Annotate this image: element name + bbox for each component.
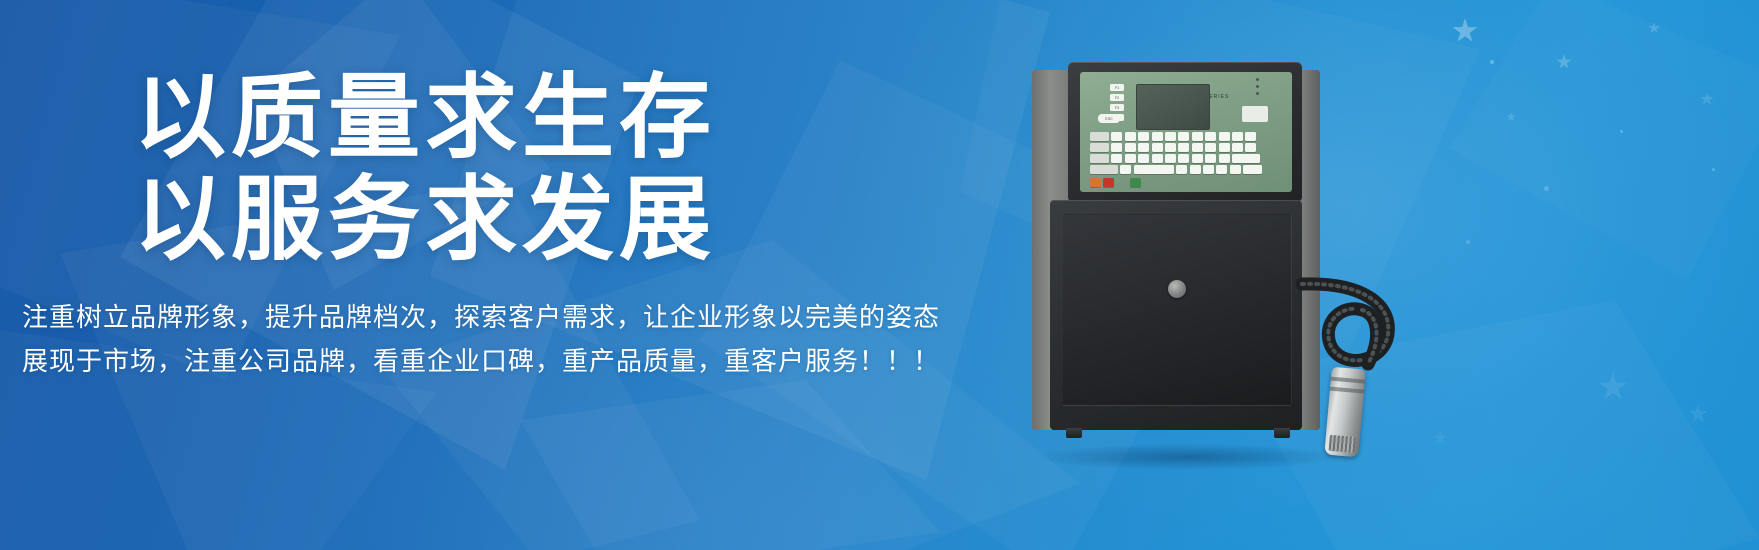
printer-umbilical-hose: [1010, 52, 1430, 472]
product-image-inkjet-printer: D SERIES F1 F2 F3 F4 ESC: [1010, 52, 1430, 472]
bokeh-dot: [1712, 168, 1715, 171]
star-sparkle-icon: [1452, 18, 1478, 44]
facet-shape: [1450, 0, 1759, 280]
star-sparkle-icon: [1556, 54, 1572, 70]
star-sparkle-icon: [1432, 430, 1448, 446]
bokeh-dot: [1466, 240, 1470, 244]
star-sparkle-icon: [1506, 112, 1516, 122]
headline-line-2: 以服务求发展: [134, 174, 1000, 268]
star-sparkle-icon: [1598, 372, 1628, 402]
star-sparkle-icon: [1648, 22, 1660, 34]
bokeh-dot: [1620, 130, 1623, 133]
subtext-line-2: 展现于市场，注重公司品牌，看重企业口碑，重产品质量，重客户服务！！！: [22, 340, 1000, 385]
star-sparkle-icon: [1688, 404, 1708, 424]
promo-banner: 以质量求生存 以服务求发展 注重树立品牌形象，提升品牌档次，探索客户需求，让企业…: [0, 0, 1759, 550]
headline-line-1: 以质量求生存: [134, 72, 1000, 166]
subtext: 注重树立品牌形象，提升品牌档次，探索客户需求，让企业形象以完美的姿态 展现于市场…: [22, 296, 1000, 385]
subtext-line-1: 注重树立品牌形象，提升品牌档次，探索客户需求，让企业形象以完美的姿态: [22, 296, 1000, 341]
star-sparkle-icon: [1700, 92, 1714, 106]
bokeh-dot: [1544, 186, 1549, 191]
facet-shape: [520, 380, 940, 550]
bokeh-dot: [1490, 60, 1494, 64]
headline: 以质量求生存 以服务求发展: [22, 72, 1000, 268]
banner-text-block: 以质量求生存 以服务求发展 注重树立品牌形象，提升品牌档次，探索客户需求，让企业…: [0, 0, 1000, 385]
